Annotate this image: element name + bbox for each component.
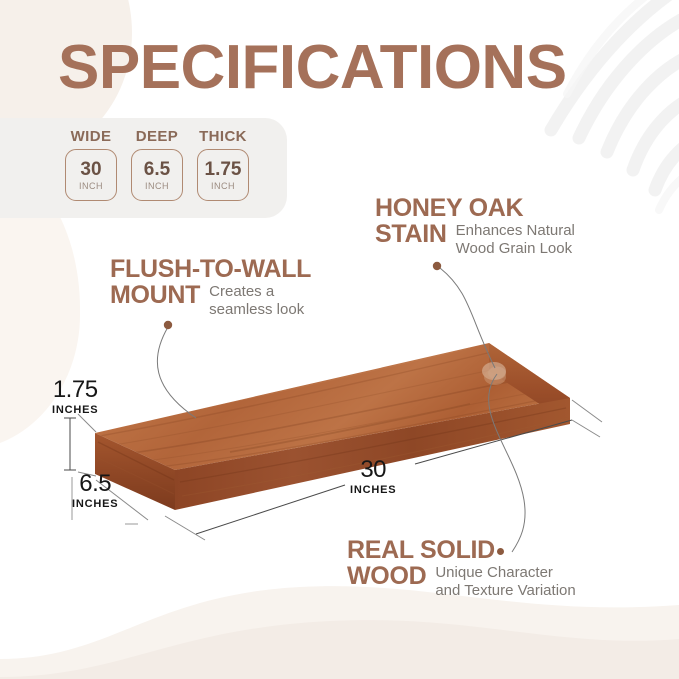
dimension-unit-width: INCHES <box>350 484 396 496</box>
dimension-unit-depth: INCHES <box>72 498 118 510</box>
dimension-unit-thickness: INCHES <box>52 404 98 416</box>
callout-real-wood-heading: REAL SOLID WOODUnique Characterand Textu… <box>347 538 576 601</box>
callout-honey-oak-heading-line2: STAIN <box>375 220 447 248</box>
callout-honey-oak-description-line1: Enhances Natural <box>456 222 575 239</box>
callout-flush-mount-description-line1: Creates a <box>209 283 274 300</box>
callout-flush-mount-heading: FLUSH-TO-WALL MOUNTCreates aseamless loo… <box>110 257 311 320</box>
callout-honey-oak-heading: HONEY OAK STAINEnhances NaturalWood Grai… <box>375 196 575 259</box>
callout-real-wood-description-line1: Unique Character <box>435 564 553 581</box>
callout-real-wood-heading-line2: WOOD <box>347 562 426 590</box>
dimension-label-thickness: 1.75 INCHES <box>52 378 98 416</box>
dimension-label-depth: 6.5 INCHES <box>72 472 118 510</box>
callout-honey-oak-heading-line1: HONEY OAK <box>375 194 523 222</box>
leader-line-flush-mount <box>157 327 196 418</box>
leader-dot-flush-mount <box>164 321 172 329</box>
callout-flush-mount-description-line2: seamless look <box>209 301 304 318</box>
dimension-value-thickness: 1.75 <box>52 378 98 402</box>
callout-honey-oak-description-line2: Wood Grain Look <box>456 240 572 257</box>
callout-real-wood-description-line2: and Texture Variation <box>435 582 575 599</box>
callout-honey-oak: HONEY OAK STAINEnhances NaturalWood Grai… <box>375 196 575 259</box>
leader-dot-real-wood-icon <box>497 548 504 555</box>
dimension-label-width: 30 INCHES <box>350 458 396 496</box>
callout-real-wood-heading-line1: REAL SOLID <box>347 536 495 564</box>
dimension-value-width: 30 <box>350 458 396 482</box>
leader-dot-honey-oak <box>433 262 441 270</box>
dimension-value-depth: 6.5 <box>72 472 118 496</box>
callout-flush-mount-heading-line2: MOUNT <box>110 281 200 309</box>
callout-real-wood: REAL SOLID WOODUnique Characterand Textu… <box>347 538 576 601</box>
callout-honey-oak-description: Enhances NaturalWood Grain Look <box>447 222 575 260</box>
specifications-infographic: SPECIFICATIONS WIDE 30 INCH DEEP 6.5 INC… <box>0 0 679 679</box>
shelf-illustration <box>0 0 679 679</box>
callout-real-wood-description: Unique Characterand Texture Variation <box>426 564 575 602</box>
callout-flush-mount-heading-line1: FLUSH-TO-WALL <box>110 255 311 283</box>
callout-flush-mount-description: Creates aseamless look <box>200 283 304 321</box>
callout-flush-mount: FLUSH-TO-WALL MOUNTCreates aseamless loo… <box>110 257 311 320</box>
